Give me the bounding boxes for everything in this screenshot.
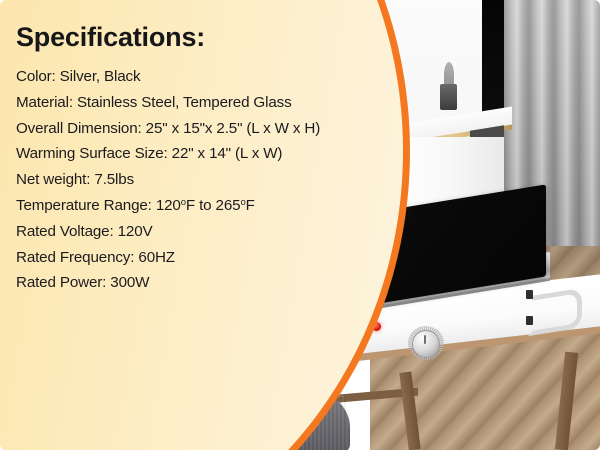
handle-mount-top [526, 290, 533, 299]
temp-prefix: Temperature Range: 120 [16, 197, 181, 214]
spec-item-overall-dimension: Overall Dimension: 25" x 15"x 2.5" (L x … [16, 116, 376, 142]
product-specification-image: Specifications: Color: Silver, Black Mat… [0, 0, 600, 450]
temp-suffix: F [246, 197, 255, 214]
spec-item-rated-voltage: Rated Voltage: 120V [16, 219, 376, 245]
spec-item-rated-power: Rated Power: 300W [16, 270, 376, 296]
handle-mount-bottom [526, 316, 533, 325]
spec-item-warming-surface-size: Warming Surface Size: 22" x 14" (L x W) [16, 141, 376, 167]
spec-item-rated-frequency: Rated Frequency: 60HZ [16, 245, 376, 271]
specification-list: Color: Silver, Black Material: Stainless… [16, 64, 376, 296]
spec-item-temperature-range: Temperature Range: 120oF to 265oF [16, 193, 376, 219]
page-title: Specifications: [16, 22, 205, 53]
spec-item-color: Color: Silver, Black [16, 64, 376, 90]
decor-vase [440, 84, 457, 110]
temperature-control-knob [412, 330, 440, 358]
temp-mid: F to 265 [186, 197, 241, 214]
spec-item-net-weight: Net weight: 7.5lbs [16, 167, 376, 193]
spec-item-material: Material: Stainless Steel, Tempered Glas… [16, 90, 376, 116]
